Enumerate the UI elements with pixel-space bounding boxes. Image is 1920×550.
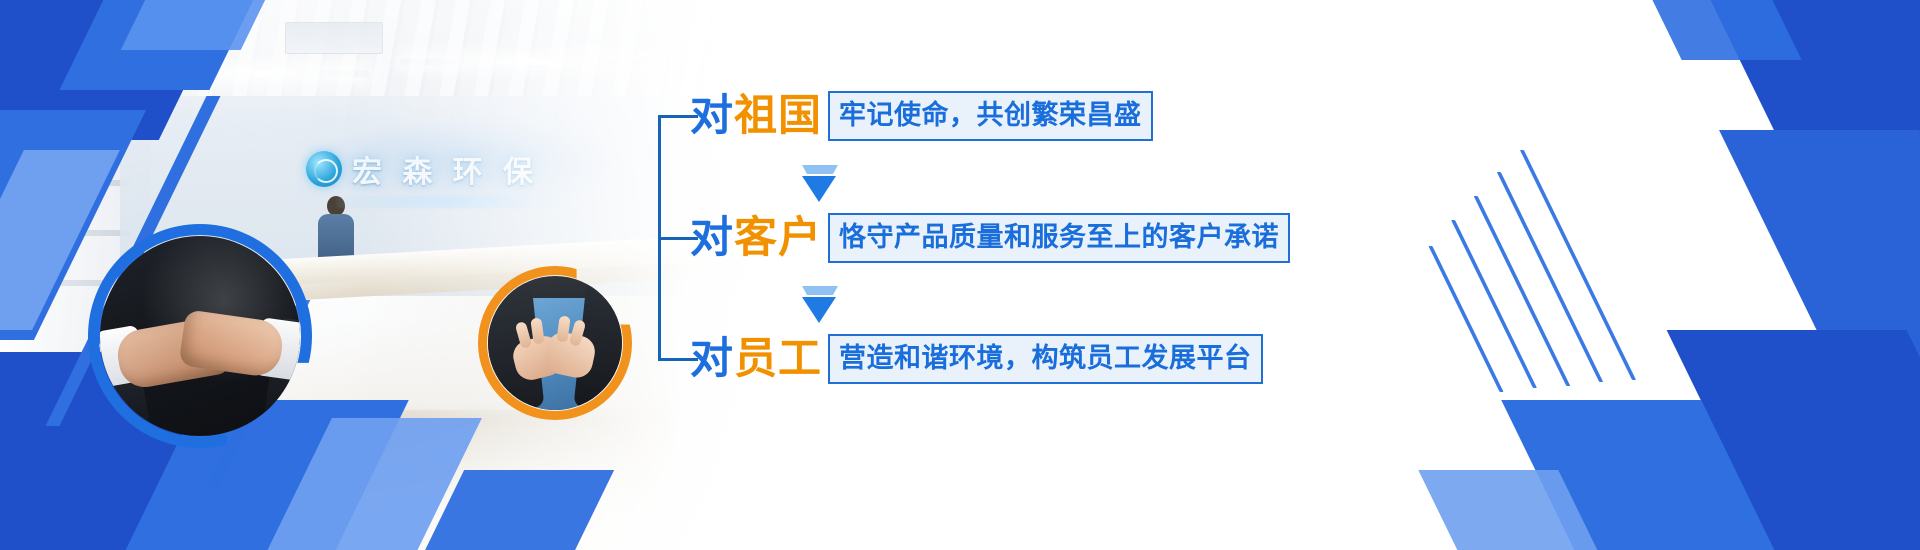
decor-shape-top-right-mid [1618, 0, 1801, 60]
values-list: 对祖国 牢记使命，共创繁荣昌盛 对客户 恪守产品质量和服务至上的客户承诺 对员工… [640, 60, 1400, 460]
handshake-image [100, 236, 300, 436]
value-title-employee: 对员工 [690, 338, 822, 381]
value-row-country: 对祖国 牢记使命，共创繁荣昌盛 [690, 88, 1153, 144]
applause-image [488, 276, 622, 410]
arrow-triangle [802, 176, 836, 202]
value-keyword: 客户 [734, 214, 822, 262]
arrow-cap [802, 165, 838, 174]
decor-line-4 [1451, 220, 1537, 388]
arrow-down-icon [802, 165, 838, 202]
handshake-photo [100, 236, 300, 436]
value-title-country: 对祖国 [690, 95, 822, 138]
company-values-banner: 宏 森 环 保 [0, 0, 1920, 550]
value-keyword: 员工 [734, 335, 822, 383]
value-prefix: 对 [690, 214, 734, 262]
value-prefix: 对 [690, 92, 734, 140]
value-description-country: 牢记使命，共创繁荣昌盛 [828, 91, 1153, 141]
value-prefix: 对 [690, 335, 734, 383]
value-description-employee: 营造和谐环境，构筑员工发展平台 [828, 334, 1263, 384]
value-row-employee: 对员工 营造和谐环境，构筑员工发展平台 [690, 331, 1263, 387]
applause-photo [488, 276, 622, 410]
value-title-customer: 对客户 [690, 217, 822, 260]
arrow-triangle [802, 297, 836, 323]
arrow-down-icon [802, 286, 838, 323]
decor-line-5 [1428, 246, 1503, 392]
value-row-customer: 对客户 恪守产品质量和服务至上的客户承诺 [690, 210, 1290, 266]
arrow-cap [802, 286, 838, 295]
value-keyword: 祖国 [734, 92, 822, 140]
value-description-customer: 恪守产品质量和服务至上的客户承诺 [828, 213, 1290, 263]
decor-line-1 [1520, 150, 1636, 380]
